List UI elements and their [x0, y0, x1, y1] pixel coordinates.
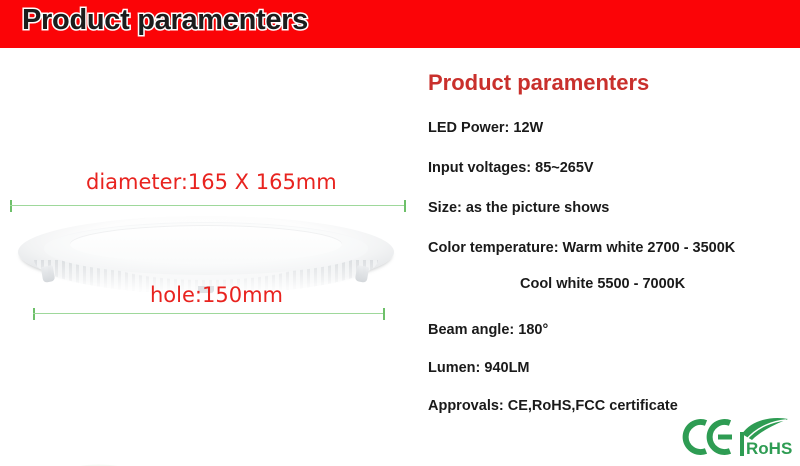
page-banner: Product paramenters — [0, 0, 800, 48]
panel-spring-clip-right — [355, 265, 370, 283]
spec-input-voltages: Input voltages: 85~265V — [428, 160, 594, 176]
hole-measure-line — [33, 308, 385, 320]
rohs-label: RoHS — [746, 439, 792, 458]
diameter-dimension-label: diameter:165 X 165mm — [86, 170, 337, 194]
measure-cap-left — [10, 200, 12, 212]
measure-cap-left — [33, 308, 35, 320]
measure-cap-right — [404, 200, 406, 212]
certification-marks: RoHS — [676, 414, 796, 460]
product-parameters-page: Product paramenters diameter:165 X 165mm… — [0, 0, 800, 466]
spec-lumen: Lumen: 940LM — [428, 360, 530, 376]
product-illustration: diameter:165 X 165mm hole:150mm — [0, 48, 412, 466]
measure-rule — [33, 313, 385, 314]
specifications-column: Product paramenters LED Power: 12W Input… — [412, 48, 800, 466]
spec-color-temp-cool: Cool white 5500 - 7000K — [520, 276, 685, 292]
spec-approvals: Approvals: CE,RoHS,FCC certificate — [428, 398, 678, 414]
measure-cap-right — [383, 308, 385, 320]
specifications-title: Product paramenters — [428, 70, 649, 96]
panel-diffuser-inner — [70, 225, 342, 263]
spec-color-temp-warm: Color temperature: Warm white 2700 - 350… — [428, 240, 735, 256]
hole-dimension-label: hole:150mm — [150, 283, 283, 307]
spec-beam-angle: Beam angle: 180° — [428, 322, 548, 338]
banner-title: Product paramenters — [22, 4, 308, 37]
diameter-measure-line — [10, 200, 406, 212]
spec-led-power: LED Power: 12W — [428, 120, 543, 136]
panel-spring-clip-left — [41, 265, 56, 283]
spec-size: Size: as the picture shows — [428, 200, 609, 216]
measure-rule — [10, 205, 406, 206]
leaf-watermark-icon — [8, 452, 178, 466]
